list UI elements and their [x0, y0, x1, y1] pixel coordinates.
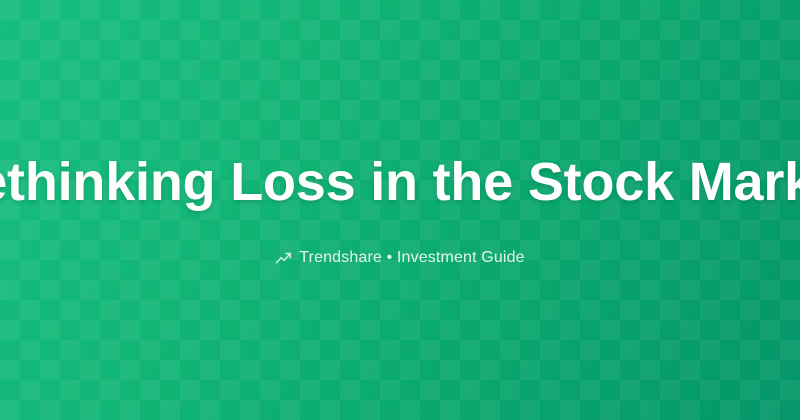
page-title: Rethinking Loss in the Stock Market	[0, 153, 800, 211]
hero-banner: Rethinking Loss in the Stock Market Tren…	[0, 0, 800, 420]
chart-line-icon	[275, 250, 292, 267]
banner-subtitle: Trendshare • Investment Guide	[275, 249, 524, 267]
banner-content: Rethinking Loss in the Stock Market Tren…	[0, 0, 800, 420]
subtitle-label: Trendshare • Investment Guide	[299, 249, 524, 267]
